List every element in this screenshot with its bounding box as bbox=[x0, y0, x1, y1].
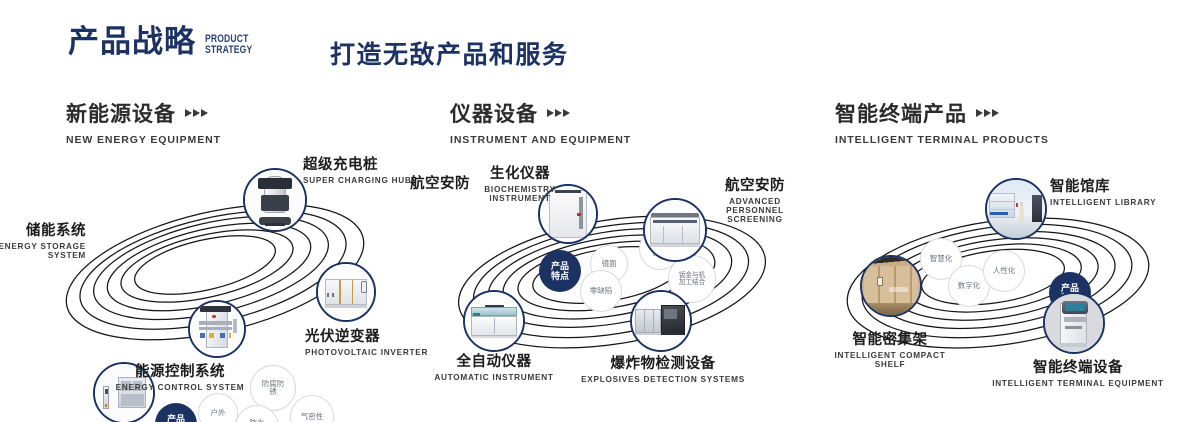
node-terminal-equipment[interactable] bbox=[1043, 292, 1105, 354]
core-badge-new-energy: 产品 特点 bbox=[155, 403, 197, 422]
section-title-cn: 新能源设备 bbox=[66, 98, 176, 128]
pv-inverter-photo bbox=[318, 264, 374, 320]
label-compact-shelf: 智能密集架 INTELLIGENT COMPACTSHELF bbox=[812, 328, 968, 369]
cluster-new-energy: 产品 特点 户外 防腐防锈 防水防尘 气密性 储能系统 ENERGY STORA… bbox=[0, 150, 420, 400]
section-heading-instrument: 仪器设备 INSTRUMENT AND EQUIPMENT bbox=[450, 98, 631, 146]
node-label-cn: 超级充电桩 bbox=[303, 153, 412, 174]
node-label-cn: 航空安防 bbox=[705, 174, 805, 195]
label-intelligent-library: 智能馆库 INTELLIGENT LIBRARY bbox=[1050, 175, 1156, 207]
node-label-en: INTELLIGENT TERMINAL EQUIPMENT bbox=[978, 379, 1178, 388]
node-label-en: AUTOMATIC INSTRUMENT bbox=[414, 373, 574, 382]
page-title-en-line2: STRATEGY bbox=[205, 45, 252, 56]
node-label-cn: 智能馆库 bbox=[1050, 175, 1156, 196]
node-label-cn: 爆炸物检测设备 bbox=[560, 352, 766, 373]
node-intelligent-library[interactable] bbox=[985, 178, 1047, 240]
section-title-en: NEW ENERGY EQUIPMENT bbox=[66, 134, 221, 146]
core-line1: 产品 bbox=[167, 414, 185, 422]
section-title-cn: 智能终端产品 bbox=[835, 98, 967, 128]
node-compact-shelf[interactable] bbox=[860, 255, 922, 317]
product-strategy-infographic: 产品战略 PRODUCT STRATEGY 打造无敌产品和服务 新能源设备 NE… bbox=[0, 0, 1200, 422]
section-heading-intelligent-terminal: 智能终端产品 INTELLIGENT TERMINAL PRODUCTS bbox=[835, 98, 1049, 146]
label-automatic-instrument: 全自动仪器 AUTOMATIC INSTRUMENT bbox=[414, 350, 574, 382]
node-label-cn: 储能系统 bbox=[0, 219, 86, 240]
section-title-en: INTELLIGENT TERMINAL PRODUCTS bbox=[835, 134, 1049, 146]
explosives-detection-photo bbox=[632, 292, 690, 350]
node-label-cn: 智能终端设备 bbox=[978, 356, 1178, 377]
page-title: 产品战略 PRODUCT STRATEGY bbox=[68, 26, 266, 57]
node-automatic-instrument[interactable] bbox=[463, 290, 525, 352]
core-line2: 特点 bbox=[551, 271, 569, 281]
node-label-en: ADVANCED PERSONNELSCREENING bbox=[705, 197, 805, 224]
node-label-cn: 智能密集架 bbox=[812, 328, 968, 349]
node-super-charging-hub[interactable] bbox=[243, 168, 307, 232]
personnel-screening-photo bbox=[645, 200, 705, 260]
node-energy-control-system[interactable] bbox=[188, 300, 246, 358]
node-label-en: BIOCHEMISTRYINSTRUMENT bbox=[450, 185, 590, 203]
page-title-en: PRODUCT STRATEGY bbox=[205, 34, 252, 56]
label-super-charging-hub: 超级充电桩 SUPER CHARGING HUB bbox=[303, 153, 412, 185]
node-label-en: ENERGY STORAGESYSTEM bbox=[0, 242, 86, 260]
super-charging-hub-photo bbox=[245, 170, 305, 230]
node-label-en: INTELLIGENT LIBRARY bbox=[1050, 198, 1156, 207]
label-energy-control-system: 能源控制系统 ENERGY CONTROL SYSTEM bbox=[80, 360, 280, 392]
cluster-intelligent-terminal: 产品 特点 智慧化 数字化 人性化 智能馆库 INTELLIGENT LIBRA… bbox=[800, 150, 1200, 400]
label-terminal-equipment: 智能终端设备 INTELLIGENT TERMINAL EQUIPMENT bbox=[978, 356, 1178, 388]
intelligent-library-photo bbox=[987, 180, 1045, 238]
label-energy-storage: 储能系统 ENERGY STORAGESYSTEM bbox=[0, 219, 86, 260]
feature-bubble-zero-defect: 零缺陷 bbox=[580, 270, 622, 312]
section-title-en: INSTRUMENT AND EQUIPMENT bbox=[450, 134, 631, 146]
core-line1: 产品 bbox=[551, 261, 569, 271]
section-title-cn: 仪器设备 bbox=[450, 98, 538, 128]
node-pv-inverter[interactable] bbox=[316, 262, 376, 322]
node-label-cn: 航空安防 bbox=[410, 172, 470, 193]
node-label-en: INTELLIGENT COMPACTSHELF bbox=[812, 351, 968, 369]
feature-bubble-text: 钣金与机加工结合 bbox=[676, 272, 708, 287]
node-label-cn: 能源控制系统 bbox=[80, 360, 280, 381]
label-aviation-security: 航空安防 bbox=[410, 172, 470, 193]
chevron-right-icon bbox=[976, 109, 999, 117]
feature-bubble-humanization: 人性化 bbox=[983, 250, 1025, 292]
feature-bubble-text: 防水防尘 bbox=[246, 419, 268, 422]
node-label-cn: 全自动仪器 bbox=[414, 350, 574, 371]
section-heading-new-energy: 新能源设备 NEW ENERGY EQUIPMENT bbox=[66, 98, 221, 146]
label-personnel-screening: 航空安防 ADVANCED PERSONNELSCREENING bbox=[705, 174, 805, 224]
terminal-equipment-photo bbox=[1045, 294, 1103, 352]
node-explosives-detection[interactable] bbox=[630, 290, 692, 352]
chevron-right-icon bbox=[185, 109, 208, 117]
node-label-en: SUPER CHARGING HUB bbox=[303, 176, 412, 185]
cluster-instrument: 产品 特点 镜面 电解抛光 零缺陷 钣金与机加工结合 生化仪器 BIOCHEMI… bbox=[400, 150, 820, 400]
label-biochemistry-instrument: 生化仪器 BIOCHEMISTRYINSTRUMENT bbox=[450, 162, 590, 203]
node-label-cn: 生化仪器 bbox=[450, 162, 590, 183]
node-label-en: EXPLOSIVES DETECTION SYSTEMS bbox=[560, 375, 766, 384]
label-explosives-detection: 爆炸物检测设备 EXPLOSIVES DETECTION SYSTEMS bbox=[560, 352, 766, 384]
node-personnel-screening[interactable] bbox=[643, 198, 707, 262]
energy-control-photo bbox=[190, 302, 244, 356]
compact-shelf-photo bbox=[862, 257, 920, 315]
page-slogan: 打造无敌产品和服务 bbox=[330, 35, 569, 71]
chevron-right-icon bbox=[547, 109, 570, 117]
automatic-instrument-photo bbox=[465, 292, 523, 350]
core-badge-instrument: 产品 特点 bbox=[539, 250, 581, 292]
page-title-cn: 产品战略 bbox=[68, 26, 196, 57]
node-label-en: ENERGY CONTROL SYSTEM bbox=[80, 383, 280, 392]
